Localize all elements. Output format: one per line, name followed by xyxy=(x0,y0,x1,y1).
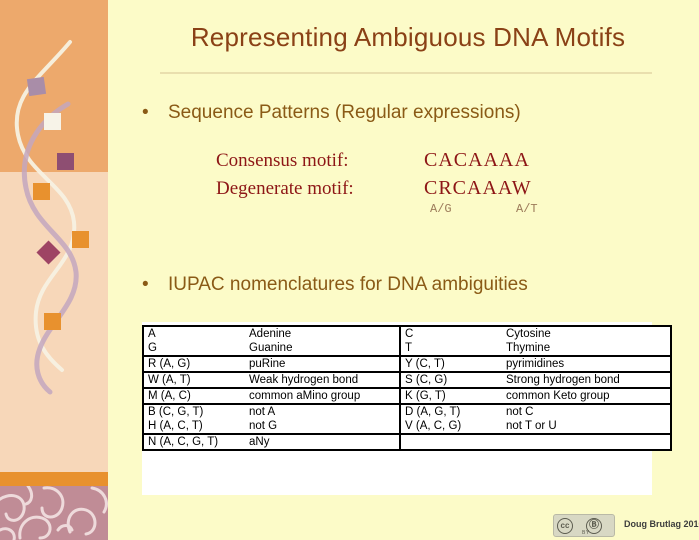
table-cell-code-left: N (A, C, G, T) xyxy=(143,434,245,450)
table-cell-desc-left: puRine xyxy=(245,356,400,372)
table-cell-code-left: H (A, C, T) xyxy=(143,419,245,434)
table-cell-desc-right: not C xyxy=(502,404,671,419)
author-credit: Doug Brutlag 2010 xyxy=(624,519,699,529)
table-cell-desc-left: common aMino group xyxy=(245,388,400,404)
table-cell-code-right: T xyxy=(400,341,502,356)
table-cell-desc-left: Weak hydrogen bond xyxy=(245,372,400,388)
table-cell-desc-right: Strong hydrogen bond xyxy=(502,372,671,388)
bullet-iupac-nomenclature: •IUPAC nomenclatures for DNA ambiguities xyxy=(142,274,528,296)
table-cell-code-left: W (A, T) xyxy=(143,372,245,388)
creative-commons-badge: cc Ⓑ BY xyxy=(553,514,615,537)
paisley-swirl-icon xyxy=(0,486,108,540)
table-cell-code-right: V (A, C, G) xyxy=(400,419,502,434)
table-cell-code-left: R (A, G) xyxy=(143,356,245,372)
table-row: H (A, C, T)not GV (A, C, G)not T or U xyxy=(143,419,671,434)
table-cell-desc-left: Guanine xyxy=(245,341,400,356)
bullet-marker-icon: • xyxy=(142,274,168,296)
table-cell-desc-left: not A xyxy=(245,404,400,419)
helix-square xyxy=(72,231,89,248)
table-cell-code-left: M (A, C) xyxy=(143,388,245,404)
sidebar-swirl-pattern xyxy=(0,486,108,540)
decorative-sidebar xyxy=(0,0,108,540)
table-cell-desc-left: Adenine xyxy=(245,326,400,341)
cc-by-label: BY xyxy=(582,530,590,536)
bullet-marker-icon: • xyxy=(142,102,168,124)
table-cell-code-right: Y (C, T) xyxy=(400,356,502,372)
helix-square xyxy=(44,313,61,330)
table-cell-desc-right xyxy=(502,434,671,450)
table-row: N (A, C, G, T)aNy xyxy=(143,434,671,450)
bullet-text: IUPAC nomenclatures for DNA ambiguities xyxy=(168,274,528,295)
helix-square xyxy=(44,113,61,130)
slide-canvas: Representing Ambiguous DNA Motifs •Seque… xyxy=(0,0,699,540)
table-row: GGuanineTThymine xyxy=(143,341,671,356)
consensus-motif-sequence: CACAAAA xyxy=(424,149,530,172)
table-cell-desc-right: not T or U xyxy=(502,419,671,434)
table-cell-desc-right: pyrimidines xyxy=(502,356,671,372)
table-row: W (A, T)Weak hydrogen bondS (C, G)Strong… xyxy=(143,372,671,388)
helix-square xyxy=(33,183,50,200)
degenerate-motif-label: Degenerate motif: xyxy=(216,178,354,200)
iupac-nomenclature-table: AAdenineCCytosineGGuanineTThymineR (A, G… xyxy=(142,325,672,451)
table-cell-desc-left: not G xyxy=(245,419,400,434)
table-row: M (A, C)common aMino groupK (G, T)common… xyxy=(143,388,671,404)
table-row: B (C, G, T)not AD (A, G, T)not C xyxy=(143,404,671,419)
table-cell-code-right: D (A, G, T) xyxy=(400,404,502,419)
table-cell-code-right xyxy=(400,434,502,450)
table-row: AAdenineCCytosine xyxy=(143,326,671,341)
consensus-motif-label: Consensus motif: xyxy=(216,150,348,172)
table-row: R (A, G)puRineY (C, T)pyrimidines xyxy=(143,356,671,372)
table-cell-code-left: B (C, G, T) xyxy=(143,404,245,419)
table-cell-code-right: C xyxy=(400,326,502,341)
dna-helix-icon xyxy=(0,0,108,472)
degenerate-motif-sequence: CRCAAAW xyxy=(424,177,532,200)
bullet-sequence-patterns: •Sequence Patterns (Regular expressions) xyxy=(142,102,521,124)
annotation-r-expansion: A/G xyxy=(430,202,452,216)
sidebar-accent-stripe xyxy=(0,472,108,486)
table-cell-code-right: S (C, G) xyxy=(400,372,502,388)
title-divider xyxy=(160,72,652,74)
table-body: AAdenineCCytosineGGuanineTThymineR (A, G… xyxy=(143,326,671,450)
table-cell-code-right: K (G, T) xyxy=(400,388,502,404)
table-cell-code-left: G xyxy=(143,341,245,356)
cc-logo-icon: cc xyxy=(557,518,573,534)
table-cell-code-left: A xyxy=(143,326,245,341)
table-cell-desc-left: aNy xyxy=(245,434,400,450)
page-title: Representing Ambiguous DNA Motifs xyxy=(128,22,688,53)
table-cell-desc-right: Cytosine xyxy=(502,326,671,341)
table-cell-desc-right: Thymine xyxy=(502,341,671,356)
bullet-text: Sequence Patterns (Regular expressions) xyxy=(168,102,521,123)
helix-square xyxy=(27,77,46,96)
helix-square xyxy=(57,153,74,170)
table-cell-desc-right: common Keto group xyxy=(502,388,671,404)
annotation-w-expansion: A/T xyxy=(516,202,538,216)
